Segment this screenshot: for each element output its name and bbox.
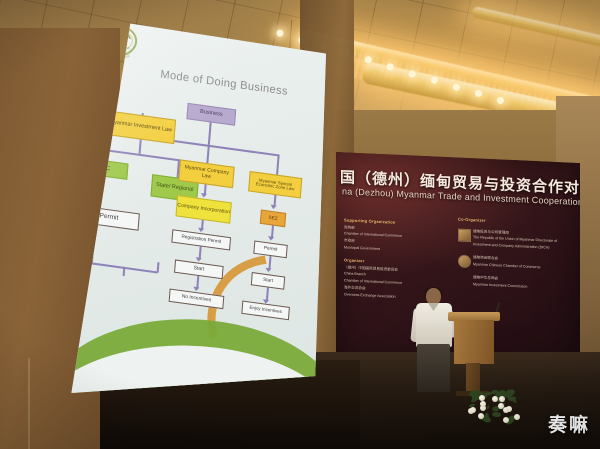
flower-bloom [503,407,509,413]
presentation-slide: DICA Directorate of Investment and Compa… [58,18,326,393]
flowchart-node-no-incentives: No Incentives [169,288,225,309]
ceiling-spot-light-icon [430,76,438,84]
arrow-b2-d [193,287,199,292]
photo-watermark: 奏嘛 [548,410,590,437]
flowchart-node-sez: SEZ [260,210,286,228]
podium [452,312,496,394]
flower-bloom [514,414,520,420]
arrow-b3-c [265,268,271,273]
ceiling-spot-light-icon [474,90,482,98]
projection-screen-area: DICA Directorate of Investment and Compa… [58,18,358,418]
flower-leaf [491,412,501,418]
flowchart-node-mic: MIC [81,157,129,180]
presenter-longyi [417,344,450,392]
flowchart-node-permit-left: Permit [78,205,140,231]
connector-branch3-drop [276,154,279,175]
podium-body [454,320,494,364]
arrow-b3-a [270,205,276,210]
ceiling-spot-light-icon [364,56,372,64]
flower-bloom [480,401,486,407]
flower-bloom [492,396,498,402]
arrow-b3-b [268,236,274,241]
ceiling-spot-light-icon [408,69,416,77]
connector-b1-bus [102,149,179,161]
connector-b1-merge-stem [123,267,125,276]
flower-leaf [486,404,490,409]
ceiling-spot-light-icon [386,63,394,71]
flowchart-node-company-incorporation: Company Incorporation [175,195,231,224]
connector-root-stem [208,122,211,145]
banner-right-column: Co-Organizer 缅甸投资与公司管理局 The Republic of … [458,216,570,292]
arrow-b2-b [198,228,204,233]
flower-bloom [499,396,505,402]
flower-arrangement [455,386,525,428]
wall-seam [28,358,30,449]
flower-leaf [511,397,518,404]
arrow-b2-c [195,257,201,262]
conference-photo: 国（德州）缅甸贸易与投资合作对接会 na (Dezhou) Myanmar Tr… [0,0,600,449]
ceiling-spot-light-icon [452,83,460,91]
connector-branch2-drop [206,145,209,164]
flowchart-node-business: Business [186,103,236,126]
banner-coorganizer-head: Co-Organizer [458,216,570,229]
flowchart-node-enjoy-incentives: Enjoy Incentives [241,301,290,321]
connector-b1-stem [139,139,142,153]
coorganizer-logo-1-icon [458,228,471,242]
flower-bloom [470,407,476,413]
connector-b1-merge-right [157,262,159,272]
coorganizer-logo-2-icon [458,255,471,269]
connector-b1-left [101,149,104,160]
projection-screen: DICA Directorate of Investment and Compa… [58,18,326,393]
ceiling-spot-light-icon [496,96,504,104]
flowchart: Business Myanmar Investment Law [58,18,326,393]
arrow-b2-a [201,193,207,198]
